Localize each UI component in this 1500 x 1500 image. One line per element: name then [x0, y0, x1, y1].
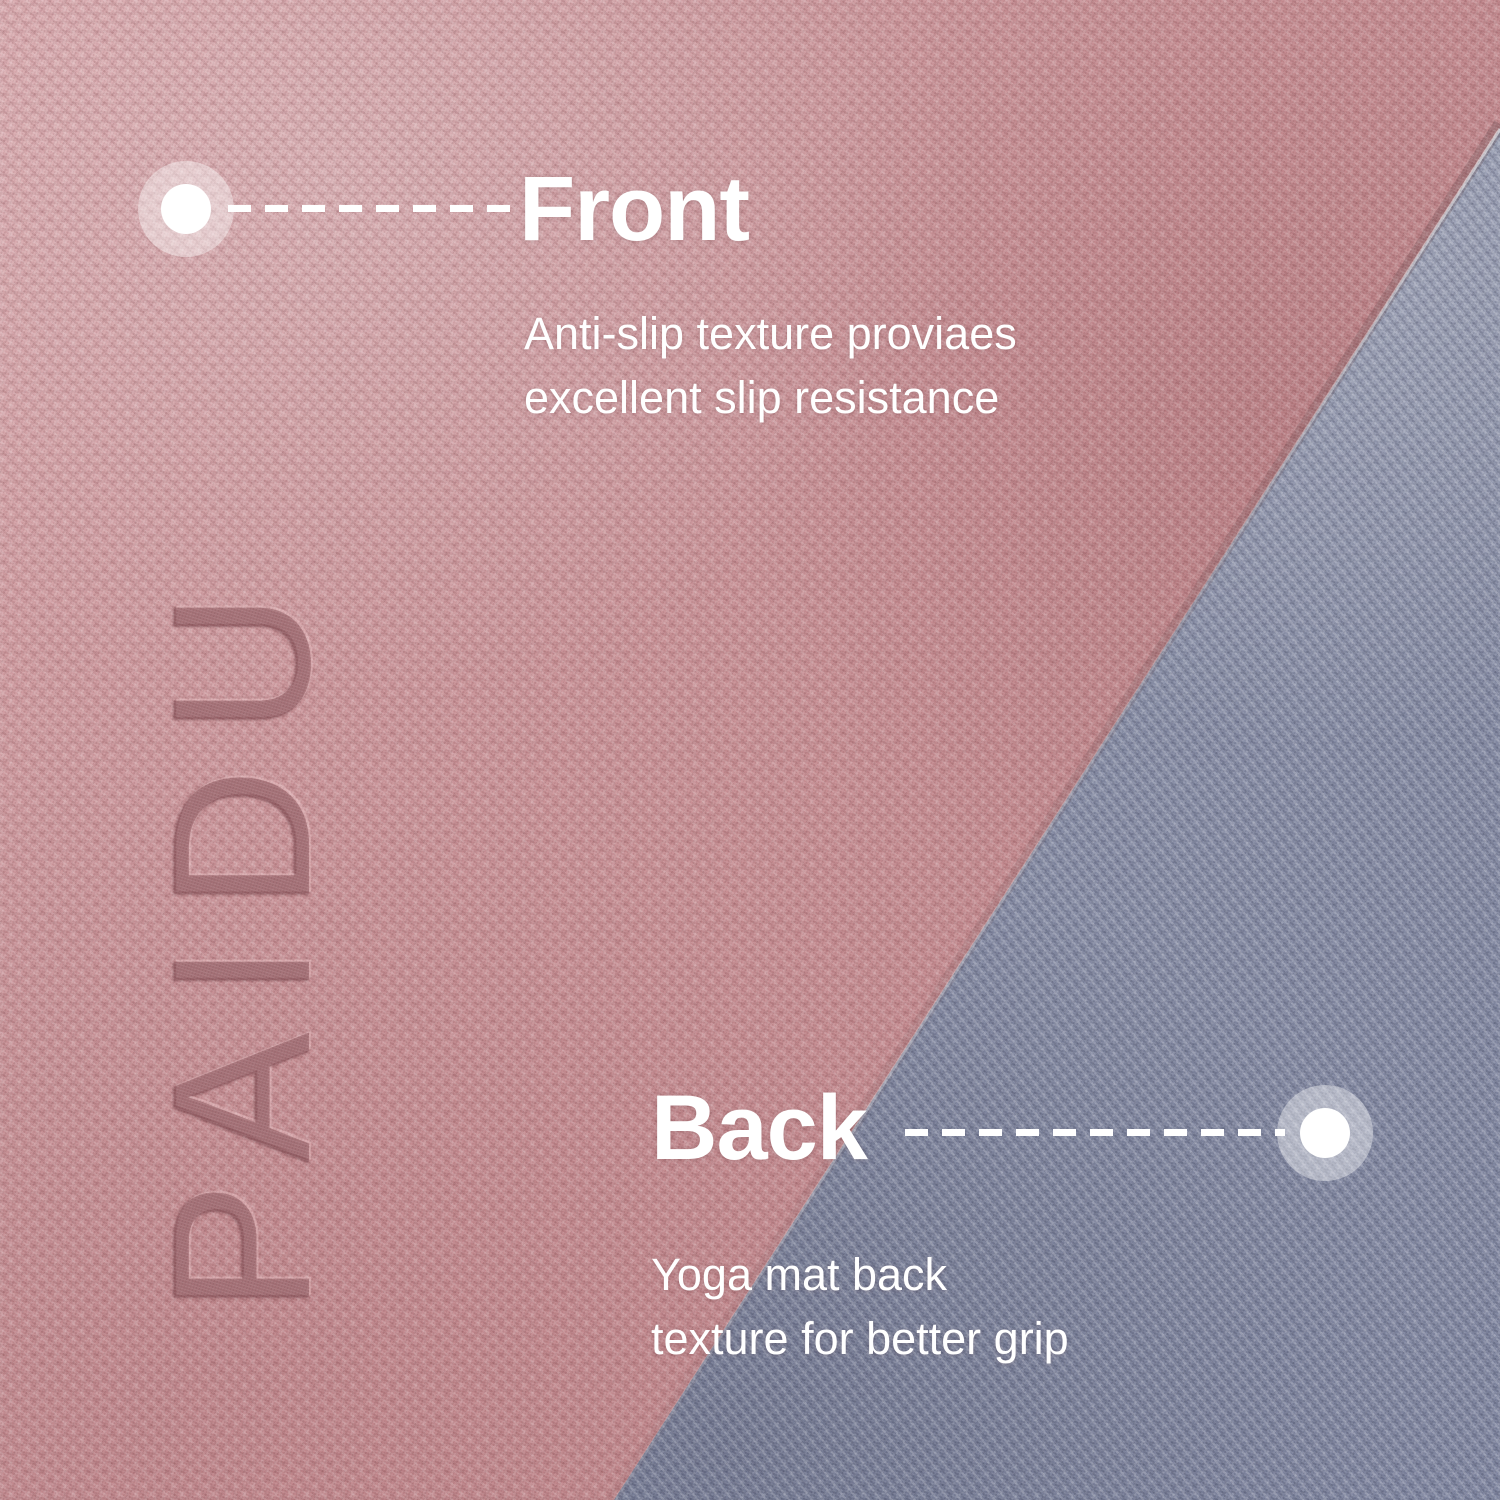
back-dot-marker-icon — [1277, 1085, 1373, 1181]
back-dashed-leader-line — [905, 1129, 1285, 1136]
product-image-canvas: PAIDU Front Anti-slip textu — [0, 0, 1500, 1500]
front-callout-description: Anti-slip texture proviaes excellent sli… — [524, 302, 1017, 430]
front-dot-marker-icon — [138, 161, 234, 257]
front-dot-marker-core-icon — [161, 184, 211, 234]
front-dashed-leader-line — [228, 205, 514, 212]
front-callout-title: Front — [519, 163, 749, 255]
back-dot-marker-core-icon — [1300, 1108, 1350, 1158]
embossed-brand-text: PAIDU — [144, 193, 340, 1313]
back-callout-description: Yoga mat back texture for better grip — [651, 1243, 1069, 1371]
back-callout-title: Back — [651, 1082, 867, 1174]
